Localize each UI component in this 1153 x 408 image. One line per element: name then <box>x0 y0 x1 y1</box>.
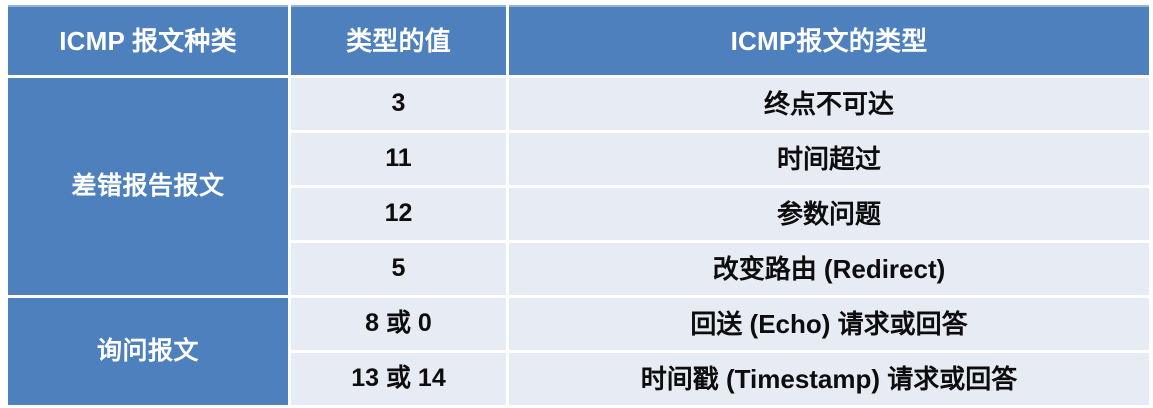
message-type-cell: 时间超过 <box>509 133 1149 185</box>
message-type-cell: 参数问题 <box>509 188 1149 240</box>
table-row: 询问报文 8 或 0 回送 (Echo) 请求或回答 <box>8 298 1149 350</box>
column-header-type-value: 类型的值 <box>291 5 506 75</box>
type-value-cell: 8 或 0 <box>291 298 506 350</box>
type-value-cell: 13 或 14 <box>291 353 506 405</box>
type-value-cell: 12 <box>291 188 506 240</box>
category-cell-query: 询问报文 <box>8 298 288 405</box>
icmp-message-types-table: ICMP 报文种类 类型的值 ICMP报文的类型 差错报告报文 3 终点不可达 … <box>5 2 1152 408</box>
icmp-message-types-table-container: ICMP 报文种类 类型的值 ICMP报文的类型 差错报告报文 3 终点不可达 … <box>5 2 1148 396</box>
type-value-cell: 5 <box>291 243 506 295</box>
table-row: 差错报告报文 3 终点不可达 <box>8 78 1149 130</box>
category-cell-error-report: 差错报告报文 <box>8 78 288 295</box>
column-header-message-type: ICMP报文的类型 <box>509 5 1149 75</box>
message-type-cell: 改变路由 (Redirect) <box>509 243 1149 295</box>
message-type-cell: 回送 (Echo) 请求或回答 <box>509 298 1149 350</box>
table-header-row: ICMP 报文种类 类型的值 ICMP报文的类型 <box>8 5 1149 75</box>
message-type-cell: 时间戳 (Timestamp) 请求或回答 <box>509 353 1149 405</box>
type-value-cell: 3 <box>291 78 506 130</box>
message-type-cell: 终点不可达 <box>509 78 1149 130</box>
table-header: ICMP 报文种类 类型的值 ICMP报文的类型 <box>8 5 1149 75</box>
type-value-cell: 11 <box>291 133 506 185</box>
column-header-category: ICMP 报文种类 <box>8 5 288 75</box>
table-body: 差错报告报文 3 终点不可达 11 时间超过 12 参数问题 5 改变路由 (R… <box>8 78 1149 405</box>
